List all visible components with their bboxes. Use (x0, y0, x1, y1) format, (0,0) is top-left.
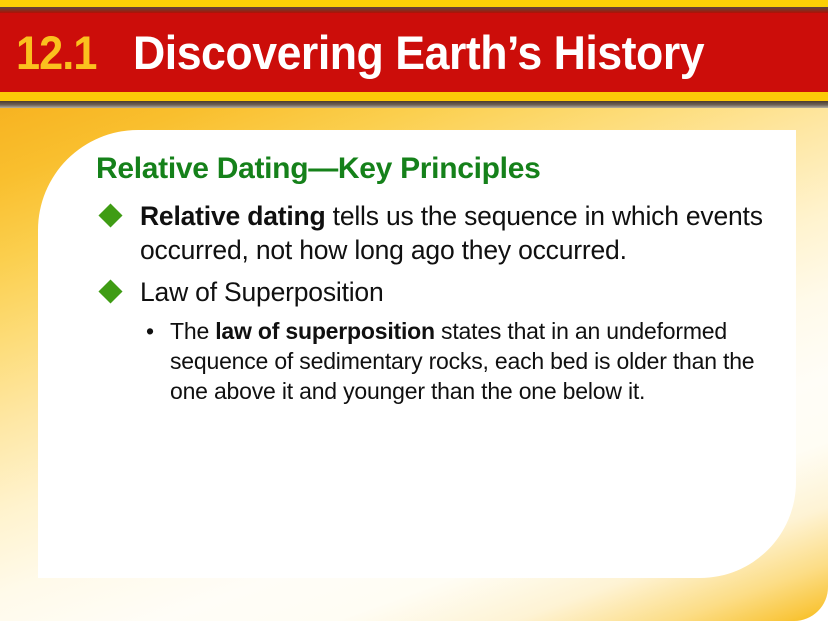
sub-bullet-item-law-definition: • The law of superposition states that i… (96, 317, 786, 407)
bullet-item-relative-dating: Relative dating tells us the sequence in… (96, 199, 786, 267)
slide-title: Discovering Earth’s History (133, 29, 704, 76)
diamond-bullet-icon (98, 279, 122, 303)
header-bottom-gold-rule (0, 92, 828, 101)
diamond-bullet-icon (98, 203, 122, 227)
dot-bullet-icon: • (146, 317, 154, 347)
content-body: Relative Dating—Key Principles Relative … (96, 152, 786, 407)
content-card: Relative Dating—Key Principles Relative … (38, 130, 796, 578)
bullet-bold-lead: Relative dating (140, 201, 326, 231)
section-heading: Relative Dating—Key Principles (96, 152, 786, 187)
sub-bullet-prefix: The (170, 318, 215, 344)
bullet-item-law-of-superposition: Law of Superposition (96, 275, 786, 309)
header-top-gold-rule (0, 0, 828, 7)
sub-bullet-bold-lead: law of superposition (215, 318, 435, 344)
header-bottom-shadow-rule (0, 101, 828, 108)
slide-header-banner: 12.1 Discovering Earth’s History (0, 0, 828, 112)
bullet-text: Law of Superposition (140, 277, 384, 307)
presentation-slide: 12.1 Discovering Earth’s History Relativ… (0, 0, 828, 621)
chapter-number: 12.1 (16, 29, 96, 76)
header-title-row: 12.1 Discovering Earth’s History (0, 13, 828, 92)
